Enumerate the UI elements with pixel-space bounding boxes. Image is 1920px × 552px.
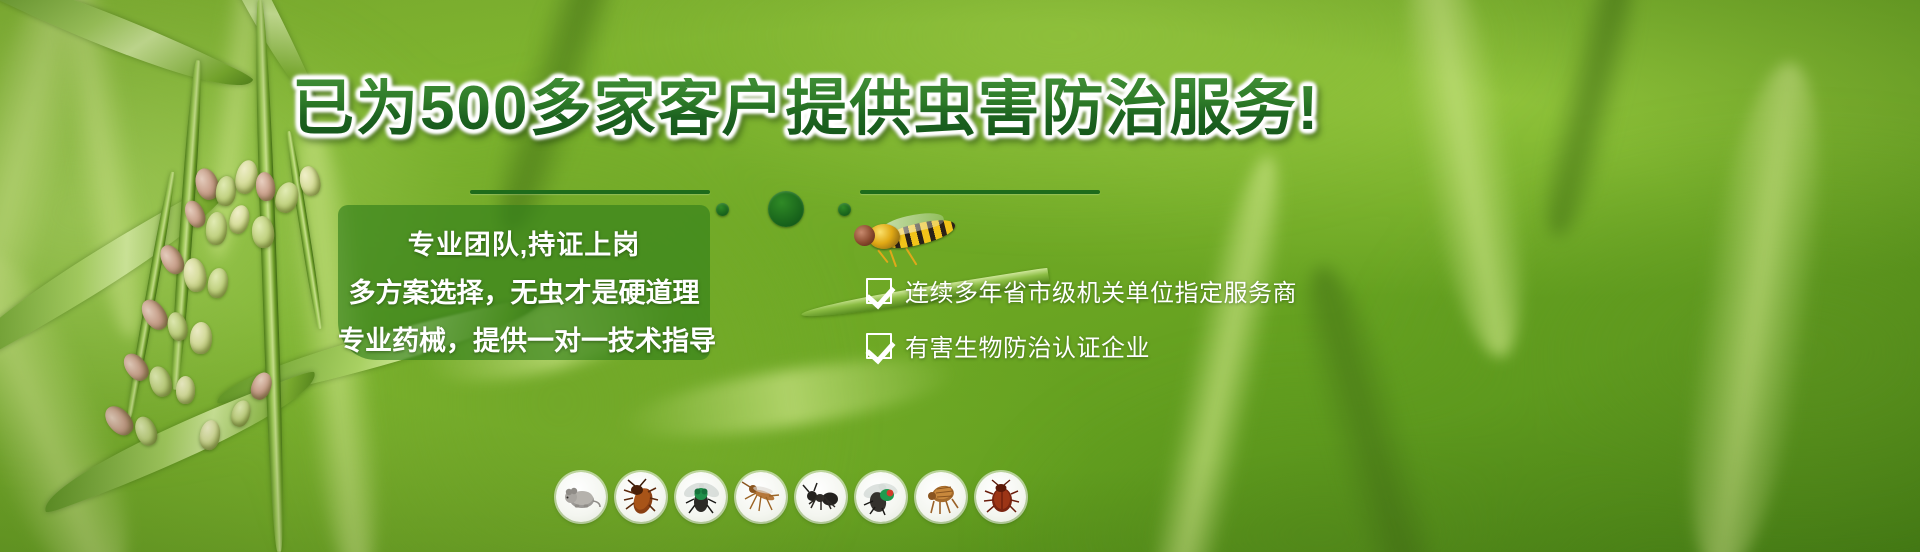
copy-line-3: 专业药械，提供一对一技术指导 [338,319,710,358]
mosquito-icon[interactable] [736,472,786,522]
pest-icon-row [556,472,1026,522]
credential-label: 连续多年省市级机关单位指定服务商 [905,273,1297,308]
bedbug-icon[interactable] [976,472,1026,522]
highlight-copy-box: 专业团队,持证上岗 多方案选择，无虫才是硬道理 专业药械，提供一对一技术指导 [338,205,710,360]
divider-line-right [860,190,1100,194]
check-box-icon [866,333,892,359]
cockroach-icon[interactable] [616,472,666,522]
divider-line-left [470,190,710,194]
ant-icon[interactable] [796,472,846,522]
decorative-divider [0,173,1920,213]
page-title: 已为500多家客户提供虫害防治服务! [292,78,1320,140]
divider-dot-small-right [838,203,851,216]
divider-dot-small-left [716,203,729,216]
check-box-icon [866,278,892,304]
flea-icon[interactable] [916,472,966,522]
copy-line-2: 多方案选择，无虫才是硬道理 [338,271,710,310]
rat-icon[interactable] [556,472,606,522]
credential-item: 连续多年省市级机关单位指定服务商 [866,273,1296,308]
divider-dot-large [768,191,804,227]
fly-icon[interactable] [676,472,726,522]
credentials-list: 连续多年省市级机关单位指定服务商 有害生物防治认证企业 [866,273,1296,383]
credential-item: 有害生物防治认证企业 [866,328,1296,363]
promo-banner: 已为500多家客户提供虫害防治服务! 专业团队,持证上岗 多方案选择，无虫才是硬… [0,0,1920,552]
credential-label: 有害生物防治认证企业 [905,328,1150,363]
blowfly-icon[interactable] [856,472,906,522]
copy-line-1: 专业团队,持证上岗 [338,223,710,262]
